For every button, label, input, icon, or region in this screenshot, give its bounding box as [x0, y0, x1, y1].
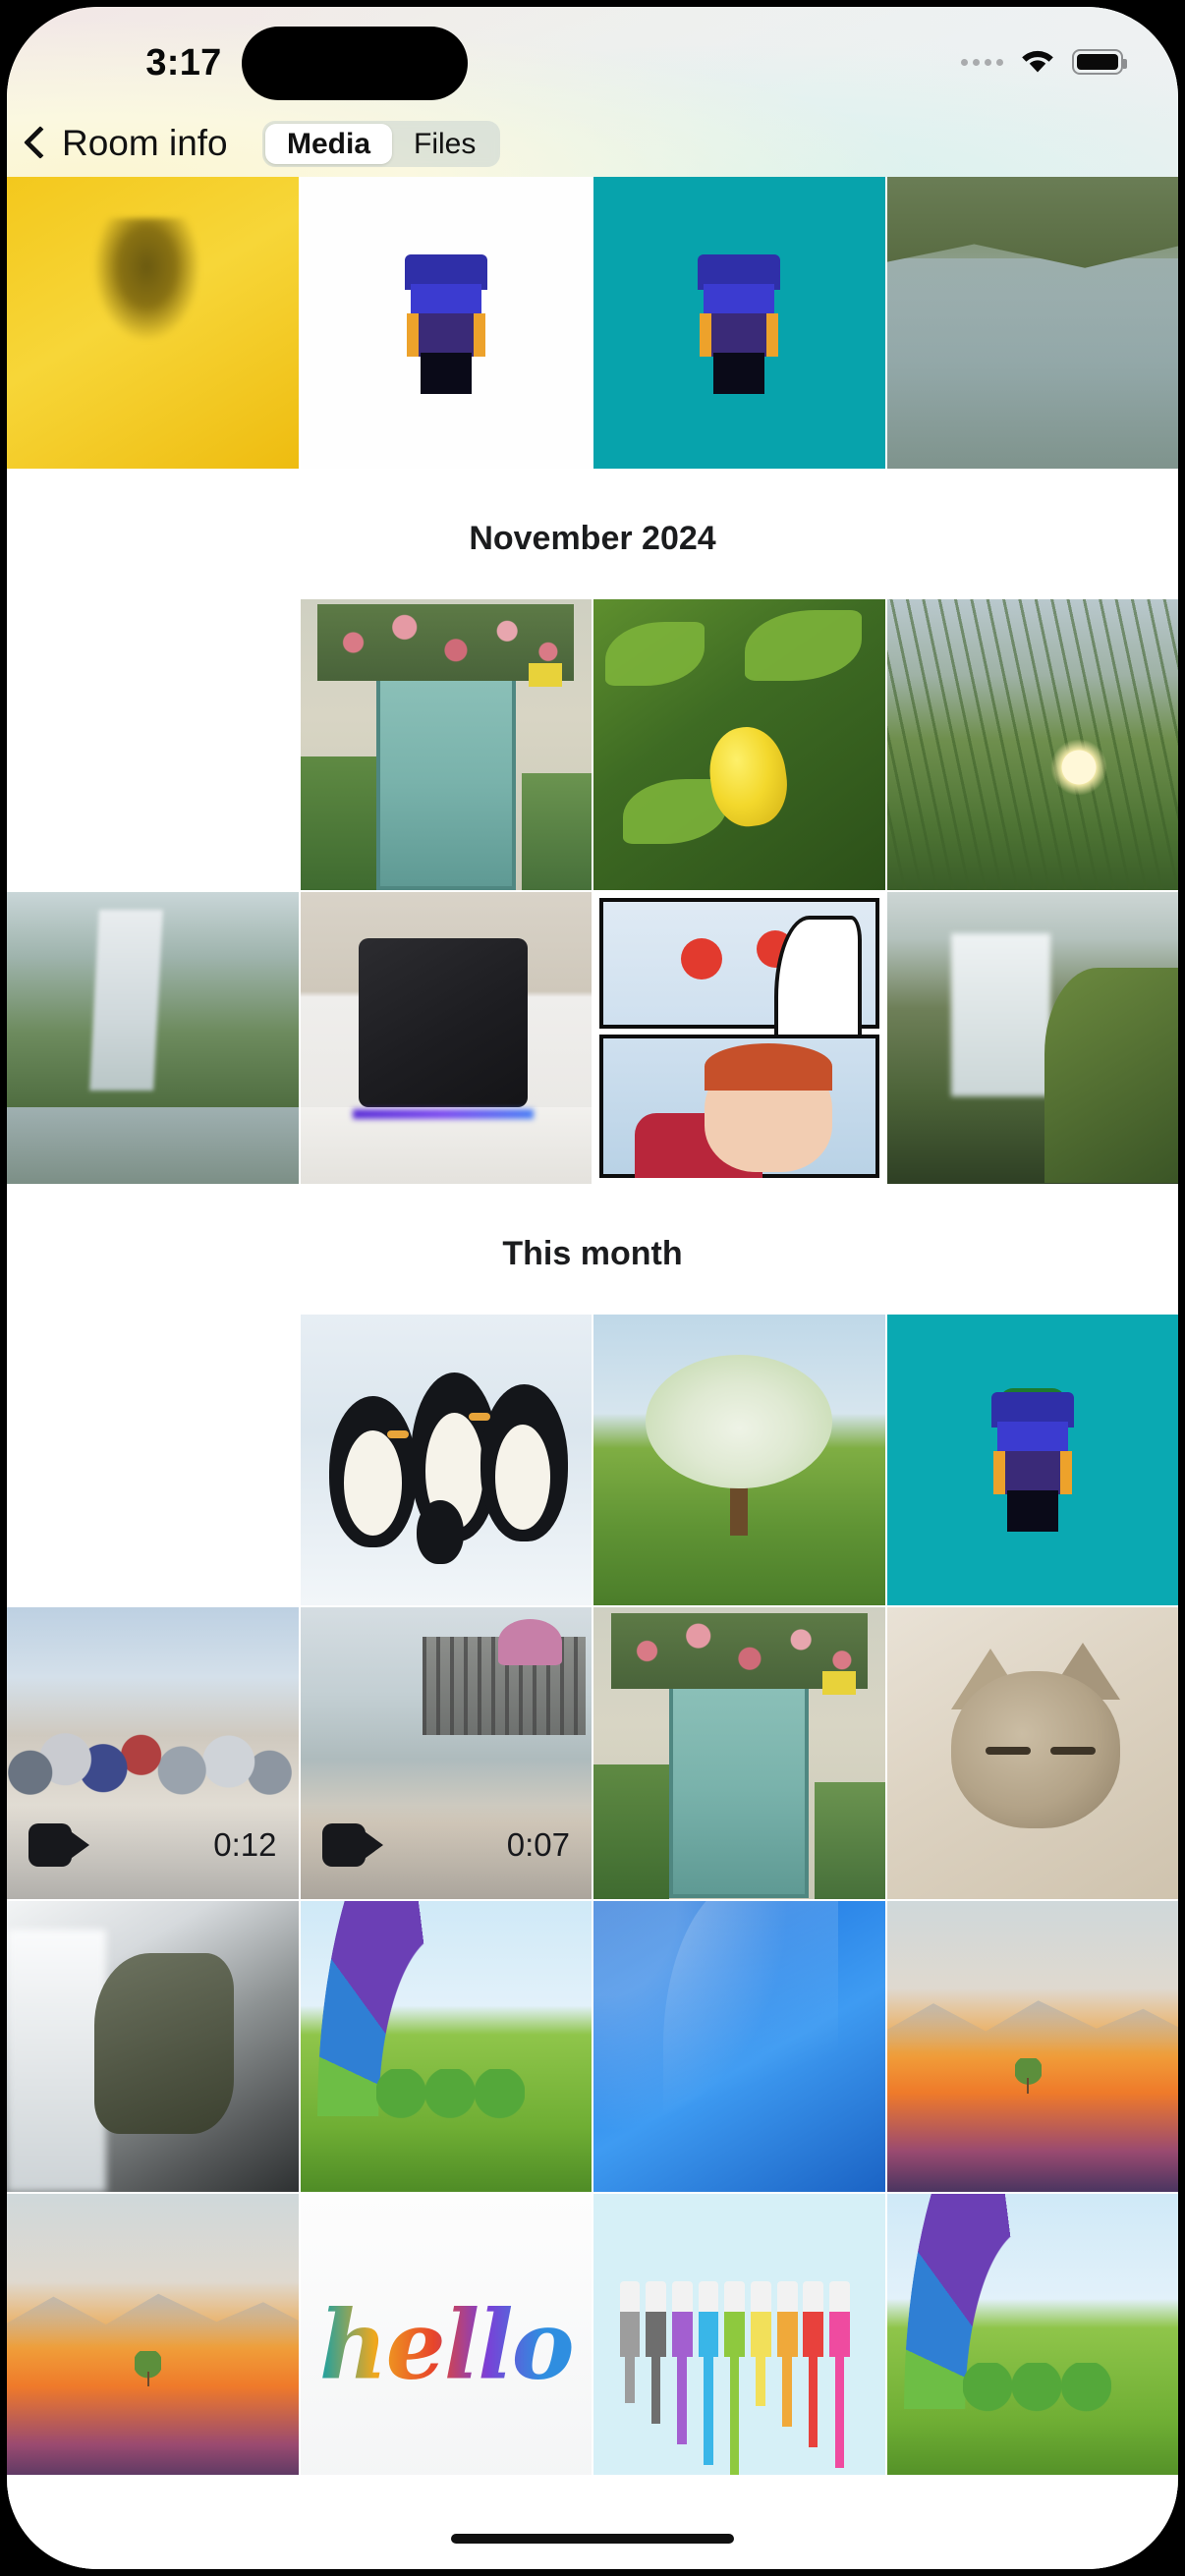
navigation-header: 3:17 [7, 7, 1178, 177]
cliff-waterfall-thumbnail [887, 892, 1179, 1184]
pier-beach-video [301, 1607, 592, 1899]
crowd-street-video [7, 1607, 299, 1899]
bottom-safe-area [7, 2475, 1178, 2569]
blank-cell [7, 1315, 299, 1606]
desktop-pc-thumbnail [301, 892, 592, 1184]
gold-box-thumbnail [7, 177, 299, 469]
home-indicator[interactable] [451, 2534, 734, 2544]
desert-tree-wallpaper-thumbnail [887, 1901, 1179, 2193]
bw-waterfall-thumbnail [7, 1901, 299, 2193]
media-thumbnail[interactable] [7, 177, 299, 469]
comic-meme-thumbnail [593, 892, 885, 1184]
blank-cell [7, 599, 299, 891]
media-thumbnail[interactable] [593, 1315, 885, 1606]
desert-tree-wallpaper-thumbnail [7, 2194, 299, 2486]
media-thumbnail[interactable] [301, 177, 592, 469]
floral-door-thumbnail [301, 599, 592, 891]
media-thumbnail[interactable] [887, 892, 1179, 1184]
media-grid [7, 599, 1178, 1184]
media-thumbnail[interactable]: 0:07 [301, 1607, 592, 1899]
lemon-tree-thumbnail [593, 599, 885, 891]
media-grid [7, 177, 1178, 469]
hello-lettering-thumbnail: hello [301, 2194, 592, 2486]
media-thumbnail[interactable] [593, 177, 885, 469]
rainbow-landscape-thumbnail [301, 1901, 592, 2193]
rainbow-landscape-thumbnail [887, 2194, 1179, 2486]
segmented-control[interactable]: Media Files [262, 121, 500, 167]
media-thumbnail[interactable]: 0:12 [7, 1607, 299, 1899]
media-thumbnail[interactable] [593, 2194, 885, 2486]
media-thumbnail[interactable] [301, 599, 592, 891]
media-gallery[interactable]: November 2024This month0:120:07hello [7, 177, 1178, 2569]
media-thumbnail[interactable] [301, 892, 592, 1184]
waterfall-green-thumbnail [7, 892, 299, 1184]
media-thumbnail[interactable] [593, 1607, 885, 1899]
blue-wave-wallpaper-thumbnail [593, 1901, 885, 2193]
hello-text: hello [319, 2290, 573, 2401]
media-thumbnail[interactable] [301, 1315, 592, 1606]
blossom-tree-thumbnail [593, 1315, 885, 1606]
status-bar: 3:17 [7, 7, 1178, 115]
media-thumbnail[interactable] [593, 892, 885, 1184]
media-thumbnail[interactable]: hello [301, 2194, 592, 2486]
media-thumbnail[interactable] [593, 1901, 885, 2193]
media-thumbnail[interactable] [887, 177, 1179, 469]
wifi-icon [1019, 48, 1056, 76]
phone-frame: 3:17 [0, 0, 1185, 2576]
media-grid: 0:120:07hello [7, 1315, 1178, 2486]
media-thumbnail[interactable] [301, 1901, 592, 2193]
media-thumbnail[interactable] [887, 599, 1179, 891]
dynamic-island [242, 27, 468, 100]
status-bar-indicators [961, 44, 1123, 80]
back-button[interactable]: Room info [25, 123, 228, 164]
media-thumbnail[interactable] [887, 1901, 1179, 2193]
battery-icon [1072, 49, 1123, 75]
device-screen: 3:17 [7, 7, 1178, 2569]
media-thumbnail[interactable] [7, 1901, 299, 2193]
section-header: November 2024 [7, 469, 1178, 599]
grass-daisy-thumbnail [887, 599, 1179, 891]
tab-media[interactable]: Media [265, 124, 392, 164]
media-thumbnail[interactable] [887, 1607, 1179, 1899]
chevron-left-icon [25, 125, 48, 162]
back-button-label: Room info [62, 123, 228, 164]
media-thumbnail[interactable] [593, 599, 885, 891]
nav-bar: Room info [7, 109, 1178, 177]
floral-door-thumbnail [593, 1607, 885, 1899]
section-header: This month [7, 1184, 1178, 1315]
media-thumbnail[interactable] [7, 892, 299, 1184]
pixel-sprite-icon [391, 254, 501, 402]
paint-drip-thumbnail [593, 2194, 885, 2486]
status-bar-clock: 3:17 [105, 42, 262, 84]
pixel-sprite-icon [978, 1392, 1088, 1540]
pixel-sprite-icon [684, 254, 794, 402]
sleeping-kitten-thumbnail [887, 1607, 1179, 1899]
signal-dots-icon [961, 59, 1003, 66]
media-thumbnail[interactable] [887, 1315, 1179, 1606]
media-thumbnail[interactable] [887, 2194, 1179, 2486]
penguins-thumbnail [301, 1315, 592, 1606]
canal-river-thumbnail [887, 177, 1179, 469]
tab-files[interactable]: Files [392, 124, 497, 164]
media-thumbnail[interactable] [7, 2194, 299, 2486]
